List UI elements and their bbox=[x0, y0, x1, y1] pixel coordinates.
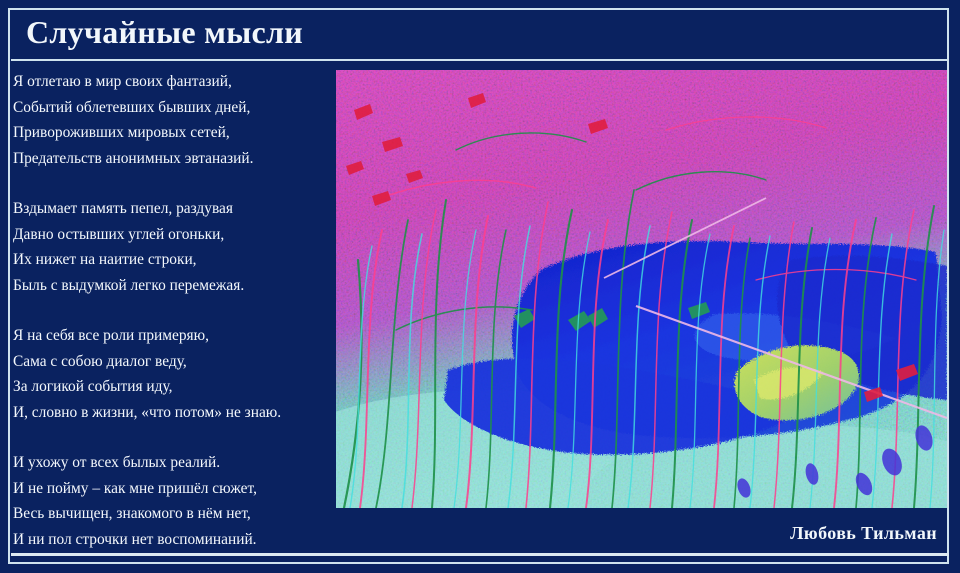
poem-stanza: Я отлетаю в мир своих фантазий, Событий … bbox=[13, 69, 333, 171]
author-signature: Любовь Тильман bbox=[0, 523, 937, 544]
poem-text: Я отлетаю в мир своих фантазий, Событий … bbox=[13, 69, 333, 573]
poem-line: Событий облетевших бывших дней, bbox=[13, 95, 333, 121]
poem-line: За логикой события иду, bbox=[13, 374, 333, 400]
solarized-meadow-illustration bbox=[336, 70, 947, 508]
page-title: Случайные мысли bbox=[26, 14, 303, 51]
poem-stanza: Вздымает память пепел, раздувая Давно ос… bbox=[13, 196, 333, 298]
poem-line: Предательств анонимных эвтаназий. bbox=[13, 146, 333, 172]
title-divider bbox=[11, 59, 949, 61]
artwork-image bbox=[336, 70, 947, 508]
poem-line: Вздымает память пепел, раздувая bbox=[13, 196, 333, 222]
poem-line: Их нижет на наитие строки, bbox=[13, 247, 333, 273]
poem-line: Сама с собою диалог веду, bbox=[13, 349, 333, 375]
poem-line: Привороживших мировых сетей, bbox=[13, 120, 333, 146]
poem-line: И, словно в жизни, «что потом» не знаю. bbox=[13, 400, 333, 426]
poem-line: И ухожу от всех былых реалий. bbox=[13, 450, 333, 476]
poem-line: Я на себя все роли примеряю, bbox=[13, 323, 333, 349]
poem-card: Случайные мысли Я отлетаю в мир своих фа… bbox=[0, 0, 960, 573]
poem-line: И не пойму – как мне пришёл сюжет, bbox=[13, 476, 333, 502]
bottom-divider bbox=[11, 553, 949, 556]
poem-line: Быль с выдумкой легко перемежая. bbox=[13, 273, 333, 299]
poem-line: Я отлетаю в мир своих фантазий, bbox=[13, 69, 333, 95]
poem-stanza: Я на себя все роли примеряю, Сама с собо… bbox=[13, 323, 333, 425]
poem-line: Давно остывших углей огоньки, bbox=[13, 222, 333, 248]
